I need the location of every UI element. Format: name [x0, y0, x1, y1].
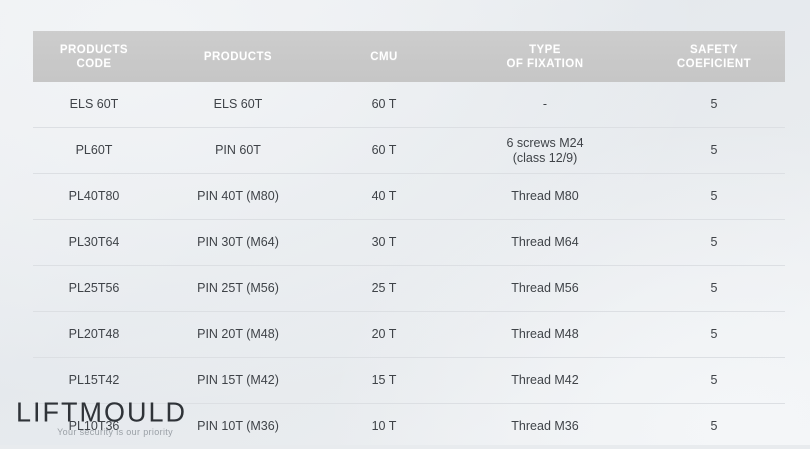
cell-products: PIN 40T (M80) [155, 174, 321, 220]
column-header-line1: CMU [325, 50, 443, 64]
column-header-cmu: CMU [321, 31, 447, 82]
cell-products: PIN 60T [155, 128, 321, 174]
cell-safety-coeficient: 5 [643, 358, 785, 404]
cell-products-code: PL40T80 [33, 174, 155, 220]
cell-cmu: 25 T [321, 266, 447, 312]
cell-products-code: PL25T56 [33, 266, 155, 312]
cell-products-code: PL60T [33, 128, 155, 174]
cell-type-of-fixation: Thread M80 [447, 174, 643, 220]
cell-fixation-line1: 6 screws M24 [451, 136, 639, 151]
cell-cmu: 20 T [321, 312, 447, 358]
cell-cmu: 60 T [321, 128, 447, 174]
cell-fixation-line1: Thread M56 [451, 281, 639, 296]
cell-type-of-fixation: Thread M36 [447, 404, 643, 449]
cell-safety-coeficient: 5 [643, 404, 785, 449]
cell-fixation-line2: (class 12/9) [451, 151, 639, 166]
cell-fixation-line1: Thread M80 [451, 189, 639, 204]
cell-fixation-line1: Thread M42 [451, 373, 639, 388]
table-body: ELS 60T ELS 60T 60 T - 5 PL60T PIN 60T 6… [33, 82, 785, 449]
column-header-line2: CODE [37, 57, 151, 71]
cell-safety-coeficient: 5 [643, 174, 785, 220]
table-header: PRODUCTS CODE PRODUCTS CMU TYPE OF FIXAT… [33, 31, 785, 82]
cell-type-of-fixation: Thread M64 [447, 220, 643, 266]
column-header-line2: OF FIXATION [451, 57, 639, 71]
table-row: PL40T80 PIN 40T (M80) 40 T Thread M80 5 [33, 174, 785, 220]
table-header-row: PRODUCTS CODE PRODUCTS CMU TYPE OF FIXAT… [33, 31, 785, 82]
cell-products: ELS 60T [155, 82, 321, 128]
cell-safety-coeficient: 5 [643, 266, 785, 312]
cell-products: PIN 30T (M64) [155, 220, 321, 266]
cell-cmu: 60 T [321, 82, 447, 128]
column-header-line1: PRODUCTS [37, 43, 151, 57]
column-header-line1: TYPE [451, 43, 639, 57]
column-header-safety-coeficient: SAFETY COEFICIENT [643, 31, 785, 82]
column-header-type-of-fixation: TYPE OF FIXATION [447, 31, 643, 82]
cell-safety-coeficient: 5 [643, 128, 785, 174]
cell-cmu: 15 T [321, 358, 447, 404]
cell-cmu: 40 T [321, 174, 447, 220]
cell-type-of-fixation: Thread M48 [447, 312, 643, 358]
table-row: ELS 60T ELS 60T 60 T - 5 [33, 82, 785, 128]
cell-type-of-fixation: Thread M42 [447, 358, 643, 404]
cell-products-code: PL20T48 [33, 312, 155, 358]
column-header-products: PRODUCTS [155, 31, 321, 82]
cell-safety-coeficient: 5 [643, 82, 785, 128]
column-header-line2: COEFICIENT [647, 57, 781, 71]
column-header-line1: SAFETY [647, 43, 781, 57]
cell-type-of-fixation: 6 screws M24 (class 12/9) [447, 128, 643, 174]
cell-products-code: PL30T64 [33, 220, 155, 266]
product-specification-table: PRODUCTS CODE PRODUCTS CMU TYPE OF FIXAT… [33, 31, 785, 449]
cell-products: PIN 20T (M48) [155, 312, 321, 358]
cell-type-of-fixation: Thread M56 [447, 266, 643, 312]
logo-wordmark: LIFTMOULD [16, 398, 226, 427]
column-header-products-code: PRODUCTS CODE [33, 31, 155, 82]
cell-safety-coeficient: 5 [643, 312, 785, 358]
table-row: PL60T PIN 60T 60 T 6 screws M24 (class 1… [33, 128, 785, 174]
column-header-line1: PRODUCTS [159, 50, 317, 64]
table-row: PL20T48 PIN 20T (M48) 20 T Thread M48 5 [33, 312, 785, 358]
cell-type-of-fixation: - [447, 82, 643, 128]
spec-table-container: PRODUCTS CODE PRODUCTS CMU TYPE OF FIXAT… [33, 31, 785, 449]
cell-products-code: ELS 60T [33, 82, 155, 128]
cell-fixation-line1: Thread M36 [451, 419, 639, 434]
cell-fixation-line1: Thread M64 [451, 235, 639, 250]
table-row: PL25T56 PIN 25T (M56) 25 T Thread M56 5 [33, 266, 785, 312]
cell-cmu: 10 T [321, 404, 447, 449]
cell-cmu: 30 T [321, 220, 447, 266]
logo-tagline: Your security is our priority [16, 427, 173, 437]
cell-fixation-line1: - [451, 97, 639, 112]
company-logo: LIFTMOULD Your security is our priority [16, 398, 226, 437]
cell-safety-coeficient: 5 [643, 220, 785, 266]
cell-products: PIN 25T (M56) [155, 266, 321, 312]
slide-canvas: PRODUCTS CODE PRODUCTS CMU TYPE OF FIXAT… [0, 0, 810, 445]
table-row: PL30T64 PIN 30T (M64) 30 T Thread M64 5 [33, 220, 785, 266]
cell-fixation-line1: Thread M48 [451, 327, 639, 342]
